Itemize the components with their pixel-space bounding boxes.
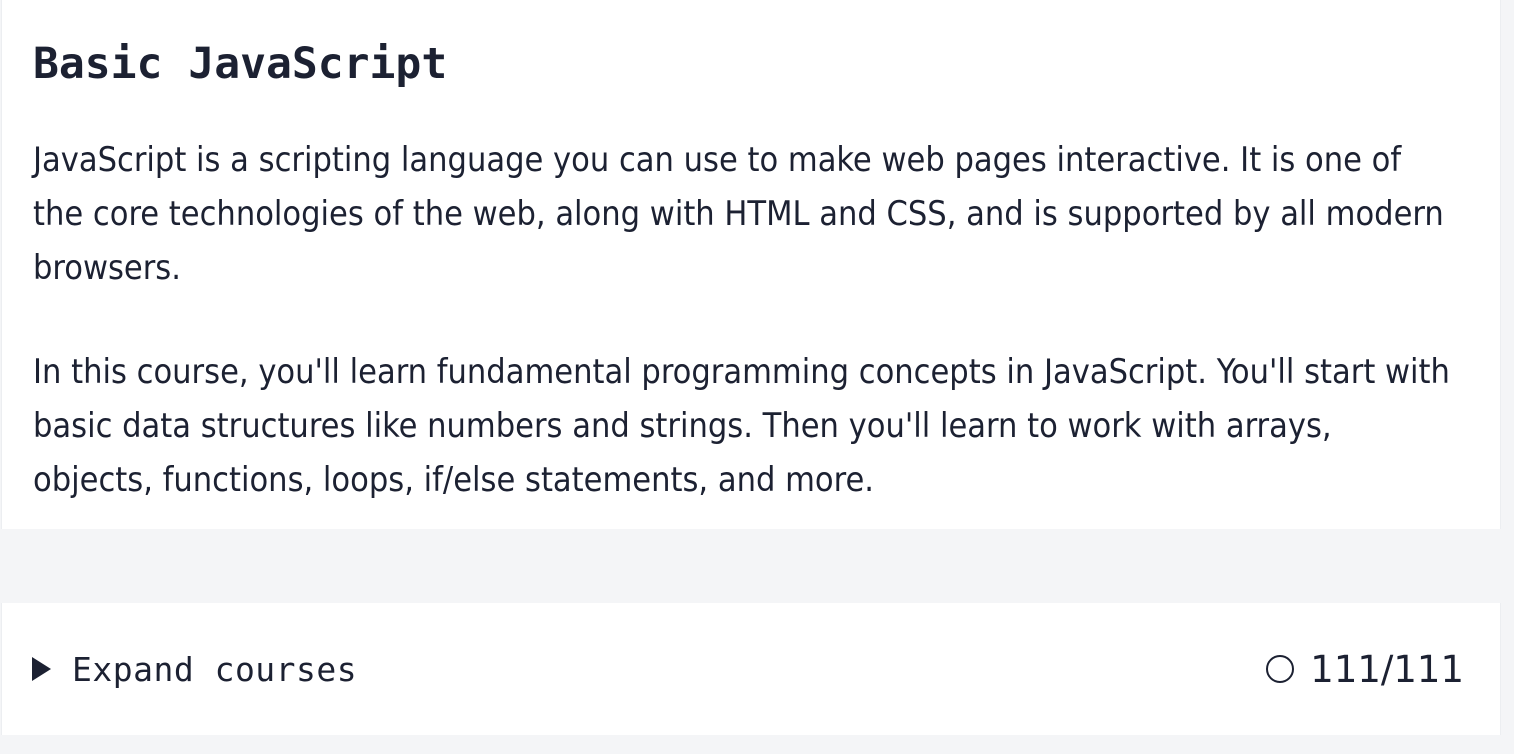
course-description-paragraph: In this course, you'll learn fundamental… [33,295,1460,507]
course-list-expander-card: Expand courses 111/111 [1,603,1501,735]
triangle-right-icon [32,657,51,681]
expand-courses-button[interactable]: Expand courses [32,653,357,686]
page-title: Basic JavaScript [2,0,1500,89]
course-progress: 111/111 [1266,651,1464,688]
circle-outline-icon [1266,655,1294,683]
course-description-card: Basic JavaScript JavaScript is a scripti… [1,0,1501,529]
progress-count-label: 111/111 [1310,651,1464,688]
page-root: Basic JavaScript JavaScript is a scripti… [0,0,1514,754]
card-section-divider [0,595,1514,603]
course-description-body: JavaScript is a scripting language you c… [2,89,1500,507]
expand-courses-label: Expand courses [72,653,357,686]
course-description-paragraph: JavaScript is a scripting language you c… [33,89,1460,295]
page-background-strip [0,735,1514,754]
